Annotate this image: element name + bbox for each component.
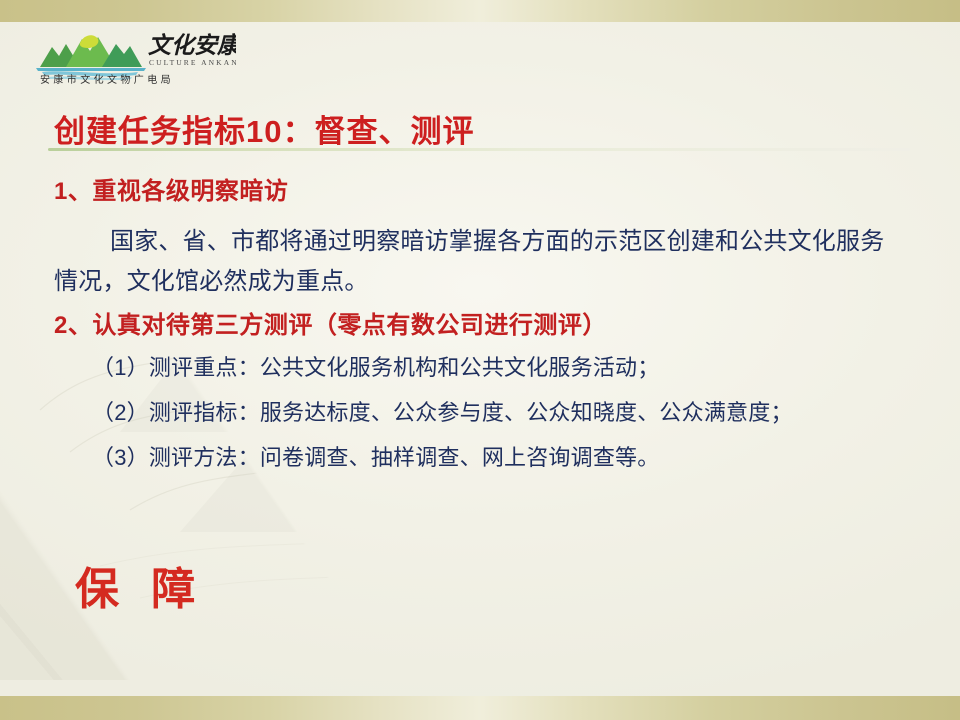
svg-text:文化安康: 文化安康 <box>148 32 236 59</box>
logo-org-name: 安康市文化文物广电局 <box>40 73 174 86</box>
section-1-paragraph-line-2: 情况，文化馆必然成为重点。 <box>54 261 369 296</box>
section-2-item-2: （2）测评指标：服务达标度、公众参与度、公众知晓度、公众满意度； <box>92 395 793 427</box>
section-1-paragraph-line-1: 国家、省、市都将通过明察暗访掌握各方面的示范区创建和公共文化服务 <box>110 221 884 256</box>
organization-logo: 文化安康 CULTURE ANKANG 安康市文化文物广电局 <box>26 27 236 89</box>
section-1-heading: 1、重视各级明察暗访 <box>54 171 288 206</box>
top-decorative-band <box>0 0 960 22</box>
footer-keyword: 保 障 <box>75 553 205 617</box>
page-title: 创建任务指标10：督查、测评 <box>54 106 474 151</box>
bottom-decorative-band <box>0 696 960 720</box>
mountain-icon <box>36 35 146 80</box>
section-2-heading: 2、认真对待第三方测评（零点有数公司进行测评） <box>54 305 607 340</box>
section-2-item-1: （1）测评重点：公共文化服务机构和公共文化服务活动； <box>92 350 659 382</box>
calligraphy-text: 文化安康 <box>148 32 236 59</box>
title-divider <box>48 148 910 151</box>
section-2-item-3: （3）测评方法：问卷调查、抽样调查、网上咨询调查等。 <box>92 440 659 472</box>
slide-canvas: 文化安康 CULTURE ANKANG 安康市文化文物广电局 创建任务指标10：… <box>0 0 960 720</box>
logo-pinyin: CULTURE ANKANG <box>149 58 236 67</box>
